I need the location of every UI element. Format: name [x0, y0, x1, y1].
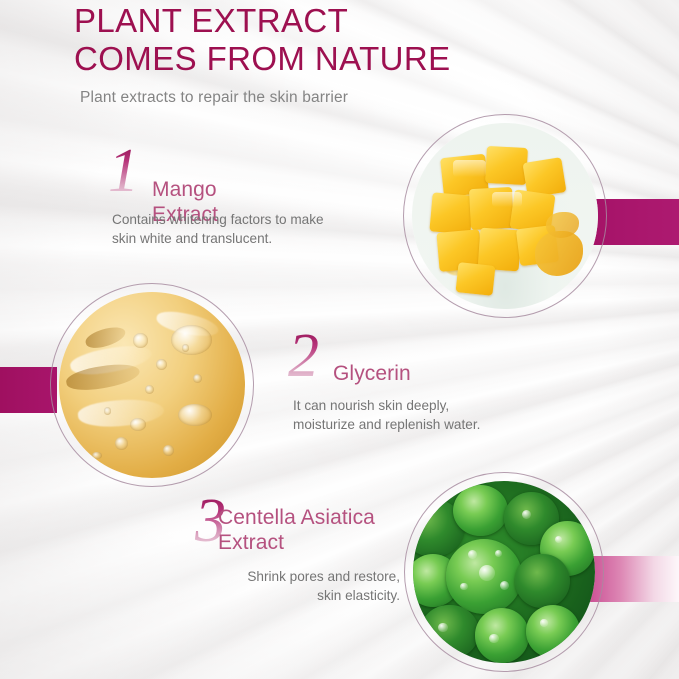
item-1-number: 1	[108, 140, 139, 202]
mango-cubes-photo	[412, 123, 598, 309]
mango-circle-wrap	[403, 114, 607, 318]
glycerin-circle-wrap	[50, 283, 254, 487]
item-3-description: Shrink pores and restore, skin elasticit…	[150, 567, 400, 605]
headline-line-1: PLANT EXTRACT	[74, 2, 634, 40]
item-1-desc-line-1: Contains whitening factors to make	[112, 212, 324, 227]
item-3-title-line-2: Extract	[218, 531, 284, 554]
subheadline: Plant extracts to repair the skin barrie…	[80, 89, 348, 107]
poster-canvas: PLANT EXTRACT COMES FROM NATURE Plant ex…	[0, 0, 679, 679]
item-3-desc-line-1: Shrink pores and restore,	[247, 569, 400, 584]
headline-line-2: COMES FROM NATURE	[74, 40, 634, 78]
centella-photo-art	[413, 481, 595, 663]
item-1-desc-line-2: skin white and translucent.	[112, 231, 272, 246]
item-3-title: Centella Asiatica Extract	[218, 505, 408, 555]
item-2-title: Glycerin	[333, 361, 411, 386]
centella-leaves-photo	[413, 481, 595, 663]
glycerin-gel-photo	[59, 292, 245, 478]
centella-circle-wrap	[404, 472, 604, 672]
item-3-desc-line-2: skin elasticity.	[317, 588, 400, 603]
glycerin-photo-art	[59, 292, 245, 478]
item-2-desc-line-1: It can nourish skin deeply,	[293, 398, 449, 413]
item-1-description: Contains whitening factors to make skin …	[112, 210, 382, 248]
item-3-title-line-1: Centella Asiatica	[218, 506, 375, 529]
item-2-description: It can nourish skin deeply, moisturize a…	[293, 396, 563, 434]
headline: PLANT EXTRACT COMES FROM NATURE	[74, 2, 634, 78]
item-2-desc-line-2: moisturize and replenish water.	[293, 417, 480, 432]
mango-photo-art	[412, 123, 598, 309]
item-2-number: 2	[288, 325, 319, 387]
accent-bar-2	[0, 367, 57, 413]
